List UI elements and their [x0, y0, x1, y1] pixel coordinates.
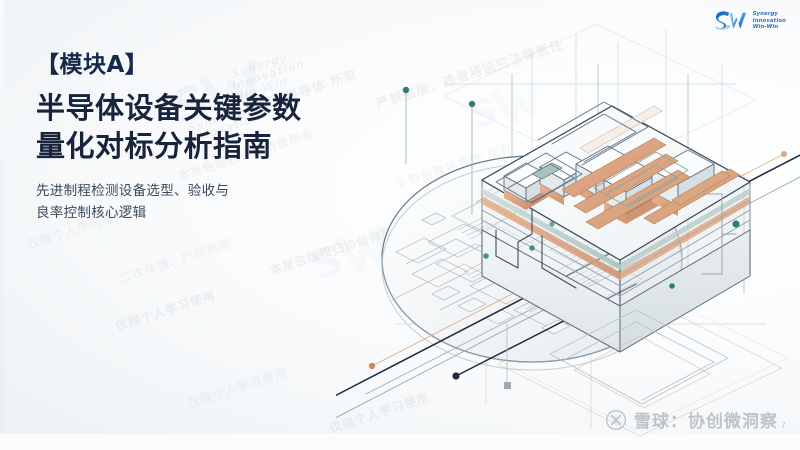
- watermark-personal-use-3: 仅限个人学习使用: [185, 363, 289, 411]
- diagram-dot-navy: [452, 372, 459, 379]
- brand-line-1: Synergy: [753, 11, 786, 18]
- slide-canvas: S S S Synergy Innovation Win-Win Synergy…: [0, 0, 800, 450]
- page-subtitle-line-1: 先进制程检测设备选型、验收与: [36, 183, 229, 199]
- diagram-dot-copper: [369, 363, 375, 369]
- left-edge-strip: [0, 0, 4, 450]
- xueqiu-circle-icon: [605, 409, 627, 431]
- source-label: 雪球：协创微洞察: [634, 407, 778, 432]
- page-title-line-1: 半导体设备关键参数: [36, 91, 302, 125]
- page-title-line-2: 量化对标分析指南: [36, 127, 436, 165]
- watermark-personal-use-1: 仅限个人学习使用: [113, 286, 217, 334]
- watermark-no-commercial-2: 二次传播、严禁商用: [117, 234, 234, 286]
- page-subtitle-line-2: 良率控制核心逻辑: [36, 202, 436, 224]
- page-title: 半导体设备关键参数 量化对标分析指南: [36, 89, 436, 165]
- module-eyebrow: 【模块A】: [36, 50, 436, 80]
- title-block: 【模块A】 半导体设备关键参数 量化对标分析指南 先进制程检测设备选型、验收与 …: [36, 50, 436, 224]
- source-watermark: 雪球：协创微洞察 7: [605, 407, 786, 432]
- page-subtitle: 先进制程检测设备选型、验收与 良率控制核心逻辑: [36, 180, 436, 224]
- source-superscript: 7: [781, 421, 786, 430]
